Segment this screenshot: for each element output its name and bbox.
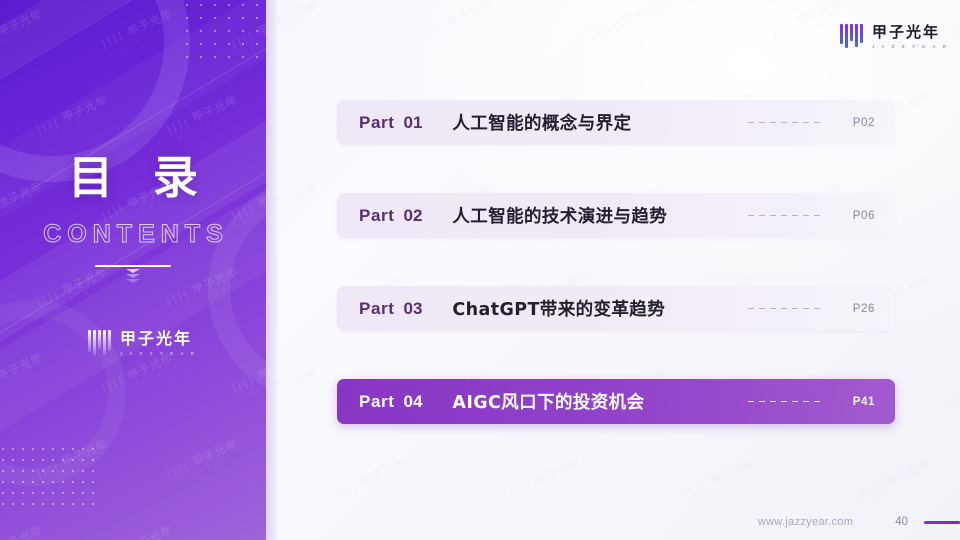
- watermark: ||||甲子光年J A Z Z Y E A R: [99, 521, 178, 540]
- brand-logo-left: 甲子光年 J A Z Z Y E A R: [88, 330, 197, 356]
- watermark: ||||甲子光年J A Z Z Y E A R: [99, 5, 178, 56]
- watermark: ||||甲子光年J A Z Z Y E A R: [229, 5, 266, 56]
- watermark: ||||甲子光年J A Z Z Y E A R: [331, 455, 410, 506]
- toc-part-label: Part: [359, 299, 394, 319]
- watermark: ||||甲子光年J A Z Z Y E A R: [594, 0, 673, 47]
- toc-section-title: AIGC风口下的投资机会: [452, 389, 644, 414]
- brand-name-en: J A Z Z Y E A R: [120, 351, 197, 356]
- brand-logo-header: 甲子光年 J A Z Z Y E A R: [840, 24, 949, 49]
- brand-name-en: J A Z Z Y E A R: [872, 44, 949, 49]
- watermark: ||||甲子光年J A Z Z Y E A R: [944, 363, 960, 414]
- watermark: ||||甲子光年J A Z Z Y E A R: [769, 0, 848, 47]
- footer: www.jazzyear.com 40: [758, 516, 960, 528]
- toc-part-label: Part: [359, 206, 394, 226]
- jazzyear-bars-icon: [840, 24, 863, 48]
- toc-section-title: 人工智能的概念与界定: [452, 110, 631, 135]
- toc-part-number: 03: [403, 299, 422, 319]
- title-divider: [95, 265, 171, 267]
- watermark: ||||甲子光年J A Z Z Y E A R: [681, 455, 760, 506]
- toc-dashed-leader: [748, 308, 823, 309]
- toc-row-04[interactable]: Part04AIGC风口下的投资机会P41: [337, 379, 895, 424]
- chevron-down-icon: [0, 269, 266, 283]
- footer-accent-bar: [924, 521, 960, 524]
- panel-edge-strip: [266, 0, 278, 540]
- watermark: ||||甲子光年J A Z Z Y E A R: [506, 455, 585, 506]
- toc-part-label: Part: [359, 392, 394, 412]
- watermark: ||||甲子光年J A Z Z Y E A R: [856, 455, 935, 506]
- watermark: ||||甲子光年J A Z Z Y E A R: [34, 435, 113, 486]
- watermark: ||||甲子光年J A Z Z Y E A R: [0, 5, 47, 56]
- footer-website: www.jazzyear.com: [758, 516, 853, 528]
- watermark: ||||甲子光年J A Z Z Y E A R: [0, 521, 47, 540]
- toc-part-number: 01: [403, 113, 422, 133]
- toc-page-ref: P02: [853, 117, 875, 129]
- brand-name-cn: 甲子光年: [872, 24, 949, 41]
- toc-dashed-leader: [748, 401, 823, 402]
- toc-page-ref: P41: [853, 396, 875, 408]
- toc-section-title: 人工智能的技术演进与趋势: [452, 203, 667, 228]
- slide-canvas: ||||甲子光年J A Z Z Y E A R||||甲子光年J A Z Z Y…: [0, 0, 960, 540]
- toc-part-label: Part: [359, 113, 394, 133]
- watermark: ||||甲子光年J A Z Z Y E A R: [164, 435, 243, 486]
- watermark: ||||甲子光年J A Z Z Y E A R: [944, 179, 960, 230]
- table-of-contents: Part01人工智能的概念与界定P02Part02人工智能的技术演进与趋势P06…: [337, 100, 895, 424]
- watermark: ||||甲子光年J A Z Z Y E A R: [229, 521, 266, 540]
- page-title: 目 录: [0, 155, 266, 200]
- left-title-panel: ||||甲子光年J A Z Z Y E A R||||甲子光年J A Z Z Y…: [0, 0, 266, 540]
- watermark: ||||甲子光年J A Z Z Y E A R: [164, 91, 243, 142]
- watermark: ||||甲子光年J A Z Z Y E A R: [34, 91, 113, 142]
- watermark: ||||甲子光年J A Z Z Y E A R: [0, 349, 47, 400]
- title-block: 目 录 CONTENTS: [0, 155, 266, 283]
- footer-page-number: 40: [895, 516, 908, 528]
- jazzyear-bars-icon: [88, 330, 111, 356]
- toc-section-title: ChatGPT带来的变革趋势: [452, 296, 665, 321]
- toc-row-02[interactable]: Part02人工智能的技术演进与趋势P06: [337, 193, 895, 238]
- toc-part-number: 02: [403, 206, 422, 226]
- watermark: ||||甲子光年J A Z Z Y E A R: [419, 0, 498, 47]
- toc-page-ref: P06: [853, 210, 875, 222]
- toc-row-03[interactable]: Part03ChatGPT带来的变革趋势P26: [337, 286, 895, 331]
- toc-dashed-leader: [748, 215, 823, 216]
- toc-row-01[interactable]: Part01人工智能的概念与界定P02: [337, 100, 895, 145]
- watermark: ||||甲子光年J A Z Z Y E A R: [229, 349, 266, 400]
- watermark: ||||甲子光年J A Z Z Y E A R: [99, 349, 178, 400]
- page-subtitle: CONTENTS: [0, 220, 266, 249]
- toc-part-number: 04: [403, 392, 422, 412]
- brand-name-cn: 甲子光年: [120, 330, 197, 348]
- toc-dashed-leader: [748, 122, 823, 123]
- toc-page-ref: P26: [853, 303, 875, 315]
